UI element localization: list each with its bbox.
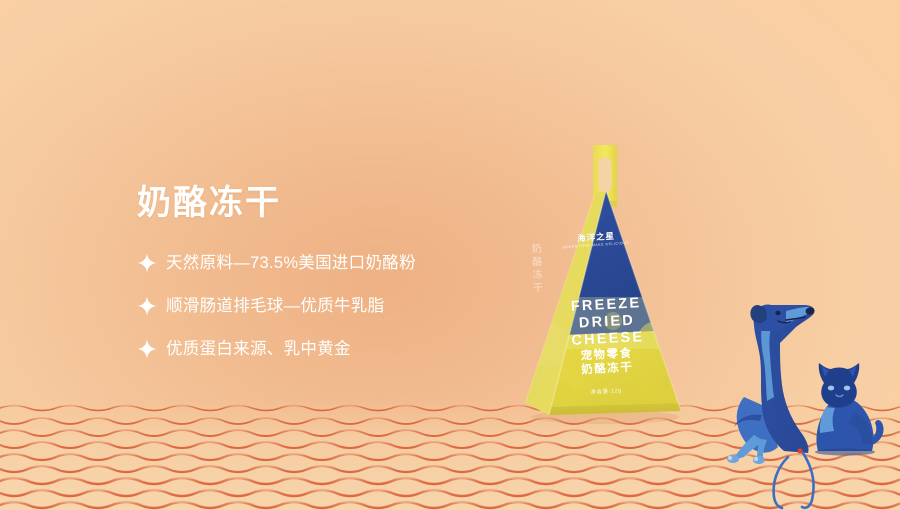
feature-bullet-label: 优质蛋白来源、乳中黄金 (166, 341, 351, 358)
pets-illustration (700, 285, 900, 510)
page-title: 奶酪冻干 (137, 186, 497, 220)
sparkle-star-icon (137, 339, 157, 359)
product-banner: 奶酪冻干 天然原料—73.5%美国进口奶酪粉 顺滑肠道排毛球—优质牛乳脂 优质蛋… (0, 0, 900, 510)
cat-illustration (815, 363, 884, 456)
feature-bullet: 优质蛋白来源、乳中黄金 (137, 338, 497, 360)
sparkle-star-icon (137, 296, 157, 316)
product-package: 海洋之星 OCEAN STAR MAKE DELICIOUS FREEZE DR… (505, 135, 705, 425)
feature-bullet-label: 天然原料—73.5%美国进口奶酪粉 (166, 255, 416, 272)
package-artwork (505, 135, 705, 425)
feature-bullet: 天然原料—73.5%美国进口奶酪粉 (137, 252, 497, 274)
marketing-copy-block: 奶酪冻干 天然原料—73.5%美国进口奶酪粉 顺滑肠道排毛球—优质牛乳脂 优质蛋… (137, 186, 497, 381)
greyhound-dog-illustration (727, 305, 815, 508)
feature-bullet: 顺滑肠道排毛球—优质牛乳脂 (137, 295, 497, 317)
sparkle-star-icon (137, 253, 157, 273)
feature-bullet-label: 顺滑肠道排毛球—优质牛乳脂 (166, 298, 384, 315)
